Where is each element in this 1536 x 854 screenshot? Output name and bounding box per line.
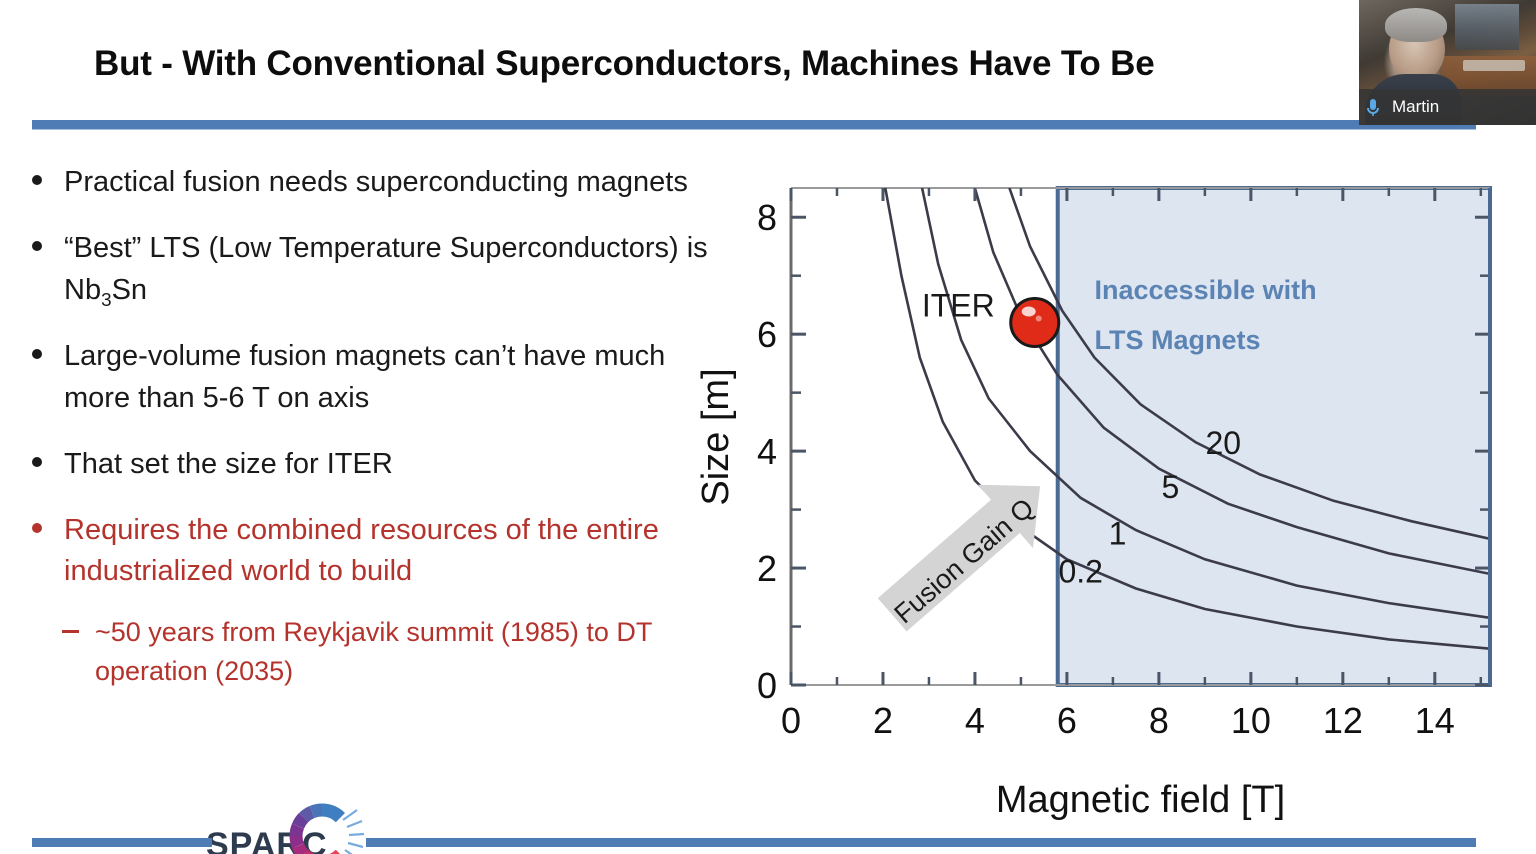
background-window (1455, 4, 1519, 50)
bullet-text: ~50 years from Reykjavik summit (1985) t… (95, 613, 714, 691)
bullet-list: Practical fusion needs superconducting m… (24, 162, 714, 715)
bullet-text: Large-volume fusion magnets can’t have m… (64, 336, 714, 420)
microphone-icon (1365, 97, 1381, 119)
person-hair (1385, 8, 1447, 42)
y-axis-title: Size [m] (700, 368, 737, 505)
curve-label-0.2: 0.2 (1058, 554, 1102, 590)
fusion-gain-chart: Fusion Gain Q0.21520ITERInaccessible wit… (700, 160, 1530, 820)
participant-name: Martin (1392, 97, 1439, 117)
marker-highlight-small (1036, 315, 1042, 321)
title-divider (32, 120, 1476, 129)
ytick-label: 4 (757, 431, 777, 472)
footer-divider-left (32, 838, 212, 847)
list-item: Requires the combined resources of the e… (24, 510, 714, 594)
background-desk-item (1463, 60, 1525, 71)
marker-iter (1011, 298, 1059, 346)
curve-label-20: 20 (1205, 425, 1241, 461)
video-name-bar: Martin (1359, 89, 1536, 125)
ytick-label: 8 (757, 197, 777, 238)
bullet-dot-icon (32, 349, 42, 359)
bullet-text: “Best” LTS (Low Temperature Superconduct… (64, 228, 714, 313)
bullet-dot-icon (32, 241, 42, 251)
marker-highlight (1022, 306, 1036, 316)
bullet-dot-icon (32, 457, 42, 467)
video-thumbnail[interactable]: Martin (1359, 0, 1536, 125)
bullet-dot-icon (32, 175, 42, 185)
curve-label-5: 5 (1161, 469, 1179, 505)
ytick-label: 2 (757, 548, 777, 589)
xtick-label: 10 (1231, 700, 1271, 741)
xtick-label: 0 (781, 700, 801, 741)
bullet-dot-icon (32, 523, 42, 533)
sparc-logo: SPARC (206, 796, 376, 854)
x-axis-title: Magnetic field [T] (996, 779, 1285, 820)
arrow-label: Fusion Gain Q (888, 492, 1039, 629)
xtick-label: 2 (873, 700, 893, 741)
ytick-label: 0 (757, 665, 777, 706)
bullet-text: Requires the combined resources of the e… (64, 510, 714, 594)
marker-label-iter: ITER (922, 287, 995, 323)
xtick-label: 8 (1149, 700, 1169, 741)
list-item: Large-volume fusion magnets can’t have m… (24, 336, 714, 420)
list-item: Practical fusion needs superconducting m… (24, 162, 714, 204)
sparc-mark-icon (280, 796, 364, 854)
bullet-text: Practical fusion needs superconducting m… (64, 162, 688, 204)
inaccessible-region (1058, 188, 1490, 685)
bullet-dash-icon (62, 630, 79, 633)
list-item: That set the size for ITER (24, 444, 714, 486)
chart-canvas: Fusion Gain Q0.21520ITERInaccessible wit… (700, 160, 1530, 820)
bullet-text: That set the size for ITER (64, 444, 393, 486)
slide-root: But - With Conventional Superconductors,… (0, 0, 1536, 854)
curve-label-1: 1 (1109, 516, 1127, 552)
fusion-gain-arrow: Fusion Gain Q (865, 455, 1068, 647)
xtick-label: 12 (1323, 700, 1363, 741)
inaccessible-region-label-line1: Inaccessible with (1095, 275, 1317, 305)
footer-divider-right (366, 838, 1476, 847)
xtick-label: 6 (1057, 700, 1077, 741)
page-title: But - With Conventional Superconductors,… (94, 44, 1394, 84)
xtick-label: 14 (1415, 700, 1455, 741)
xtick-label: 4 (965, 700, 985, 741)
list-item: ~50 years from Reykjavik summit (1985) t… (62, 613, 714, 691)
inaccessible-region-label-line2: LTS Magnets (1095, 325, 1261, 355)
ytick-label: 6 (757, 314, 777, 355)
marker-dot (1011, 298, 1059, 346)
list-item: “Best” LTS (Low Temperature Superconduct… (24, 228, 714, 313)
